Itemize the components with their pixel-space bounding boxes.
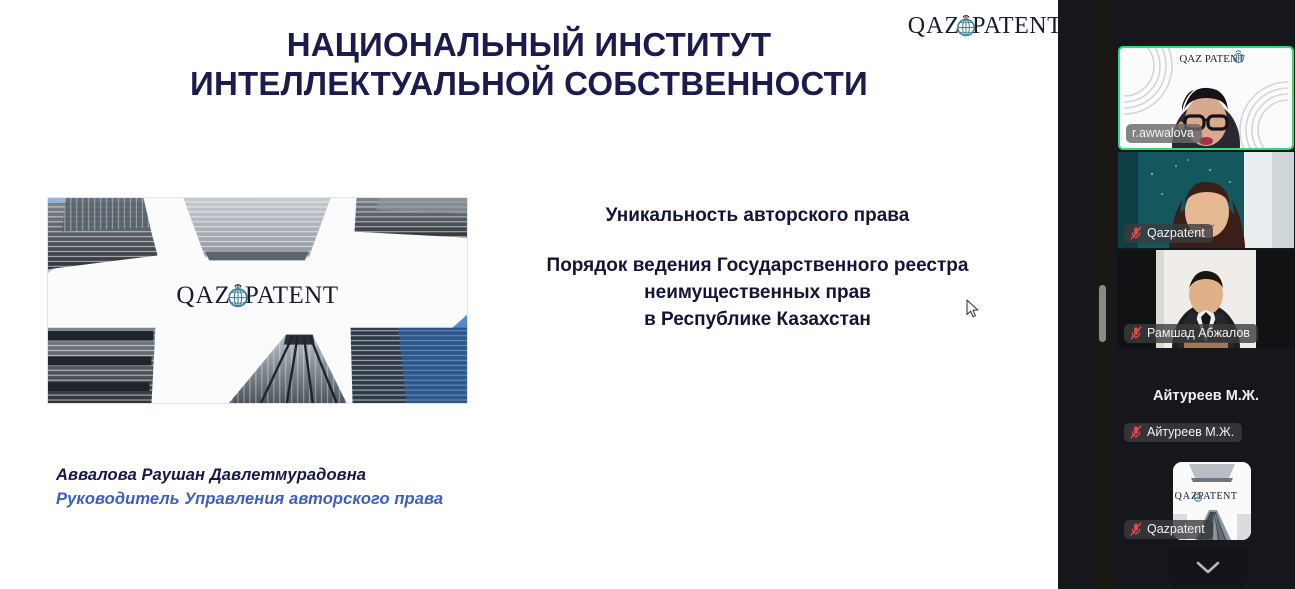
avatar-logo: QAZ PATENT	[1118, 486, 1294, 504]
participant-name-badge: Рамшад Абжалов	[1124, 324, 1258, 343]
mic-muted-icon	[1130, 326, 1142, 340]
title-line-1: НАЦИОНАЛЬНЫЙ ИНСТИТУТ	[0, 26, 1058, 65]
page-title: НАЦИОНАЛЬНЫЙ ИНСТИТУТ ИНТЕЛЛЕКТУАЛЬНОЙ С…	[0, 26, 1058, 103]
mic-muted-icon	[1130, 425, 1142, 439]
participant-rail[interactable]: QAZ PATENT r.awwalova	[1114, 0, 1295, 589]
title-line-2: ИНТЕЛЛЕКТУАЛЬНОЙ СОБСТВЕННОСТИ	[0, 65, 1058, 104]
participant-tile-aitureev[interactable]: Айтуреев М.Ж. Айтуреев М.Ж.	[1118, 370, 1294, 448]
participant-name: Qazpatent	[1147, 226, 1205, 240]
participant-name-badge: Qazpatent	[1124, 224, 1213, 243]
globe-sphere-icon	[226, 282, 250, 310]
scroll-down-button[interactable]	[1169, 547, 1247, 587]
screen-share-meeting-window: QAZ PATENT	[0, 0, 1295, 589]
participant-tile-ramshad[interactable]: Рамшад Абжалов	[1118, 250, 1294, 348]
participant-tile-rawwalova[interactable]: QAZ PATENT r.awwalova	[1118, 46, 1294, 150]
speaker-credit: Аввалова Раушан Давлетмурадовна Руководи…	[56, 464, 443, 512]
participant-name: Айтуреев М.Ж.	[1147, 425, 1234, 439]
globe-sphere-icon	[1193, 491, 1203, 503]
slide-body-text: Уникальность авторского права Порядок ве…	[500, 203, 1015, 334]
participant-name-badge: Qazpatent	[1124, 520, 1213, 539]
photo-overlay-logo: QAZ PAT	[48, 282, 467, 310]
participant-name-badge: Айтуреев М.Ж.	[1124, 423, 1242, 442]
body-line-2: Порядок ведения Государственного реестра	[500, 253, 1015, 280]
participant-tile-qazpatent-2[interactable]: QAZ PATENT	[1118, 455, 1294, 547]
body-line-3: неимущественных прав	[500, 280, 1015, 307]
participants-scrollbar[interactable]	[1099, 285, 1106, 342]
body-spacer	[500, 229, 1015, 253]
skyscrapers-photo: QAZ PAT	[47, 197, 468, 404]
body-line-4: в Республике Казахстан	[500, 307, 1015, 334]
speaker-name: Аввалова Раушан Давлетмурадовна	[56, 464, 443, 488]
participant-name-badge: r.awwalova	[1126, 124, 1202, 143]
shared-slide-area[interactable]: QAZ PATENT	[0, 0, 1058, 589]
participant-name: r.awwalova	[1132, 126, 1194, 140]
speaker-role: Руководитель Управления авторского права	[56, 488, 443, 512]
participant-name: Рамшад Абжалов	[1147, 326, 1250, 340]
participant-display-name: Айтуреев М.Ж.	[1118, 388, 1294, 404]
photo-logo-text-patent: PATENT	[245, 282, 339, 310]
participant-tile-qazpatent-1[interactable]: Qazpatent	[1118, 152, 1294, 248]
participant-name: Qazpatent	[1147, 522, 1205, 536]
mic-muted-icon	[1130, 226, 1142, 240]
avatar-logo-text-patent: PATENT	[1198, 491, 1237, 502]
photo-logo-text-qaz: QAZ	[176, 282, 230, 310]
chevron-down-icon	[1195, 560, 1221, 575]
mic-muted-icon	[1130, 522, 1142, 536]
body-line-1: Уникальность авторского права	[500, 203, 1015, 229]
rail-gutter	[1058, 0, 1114, 589]
